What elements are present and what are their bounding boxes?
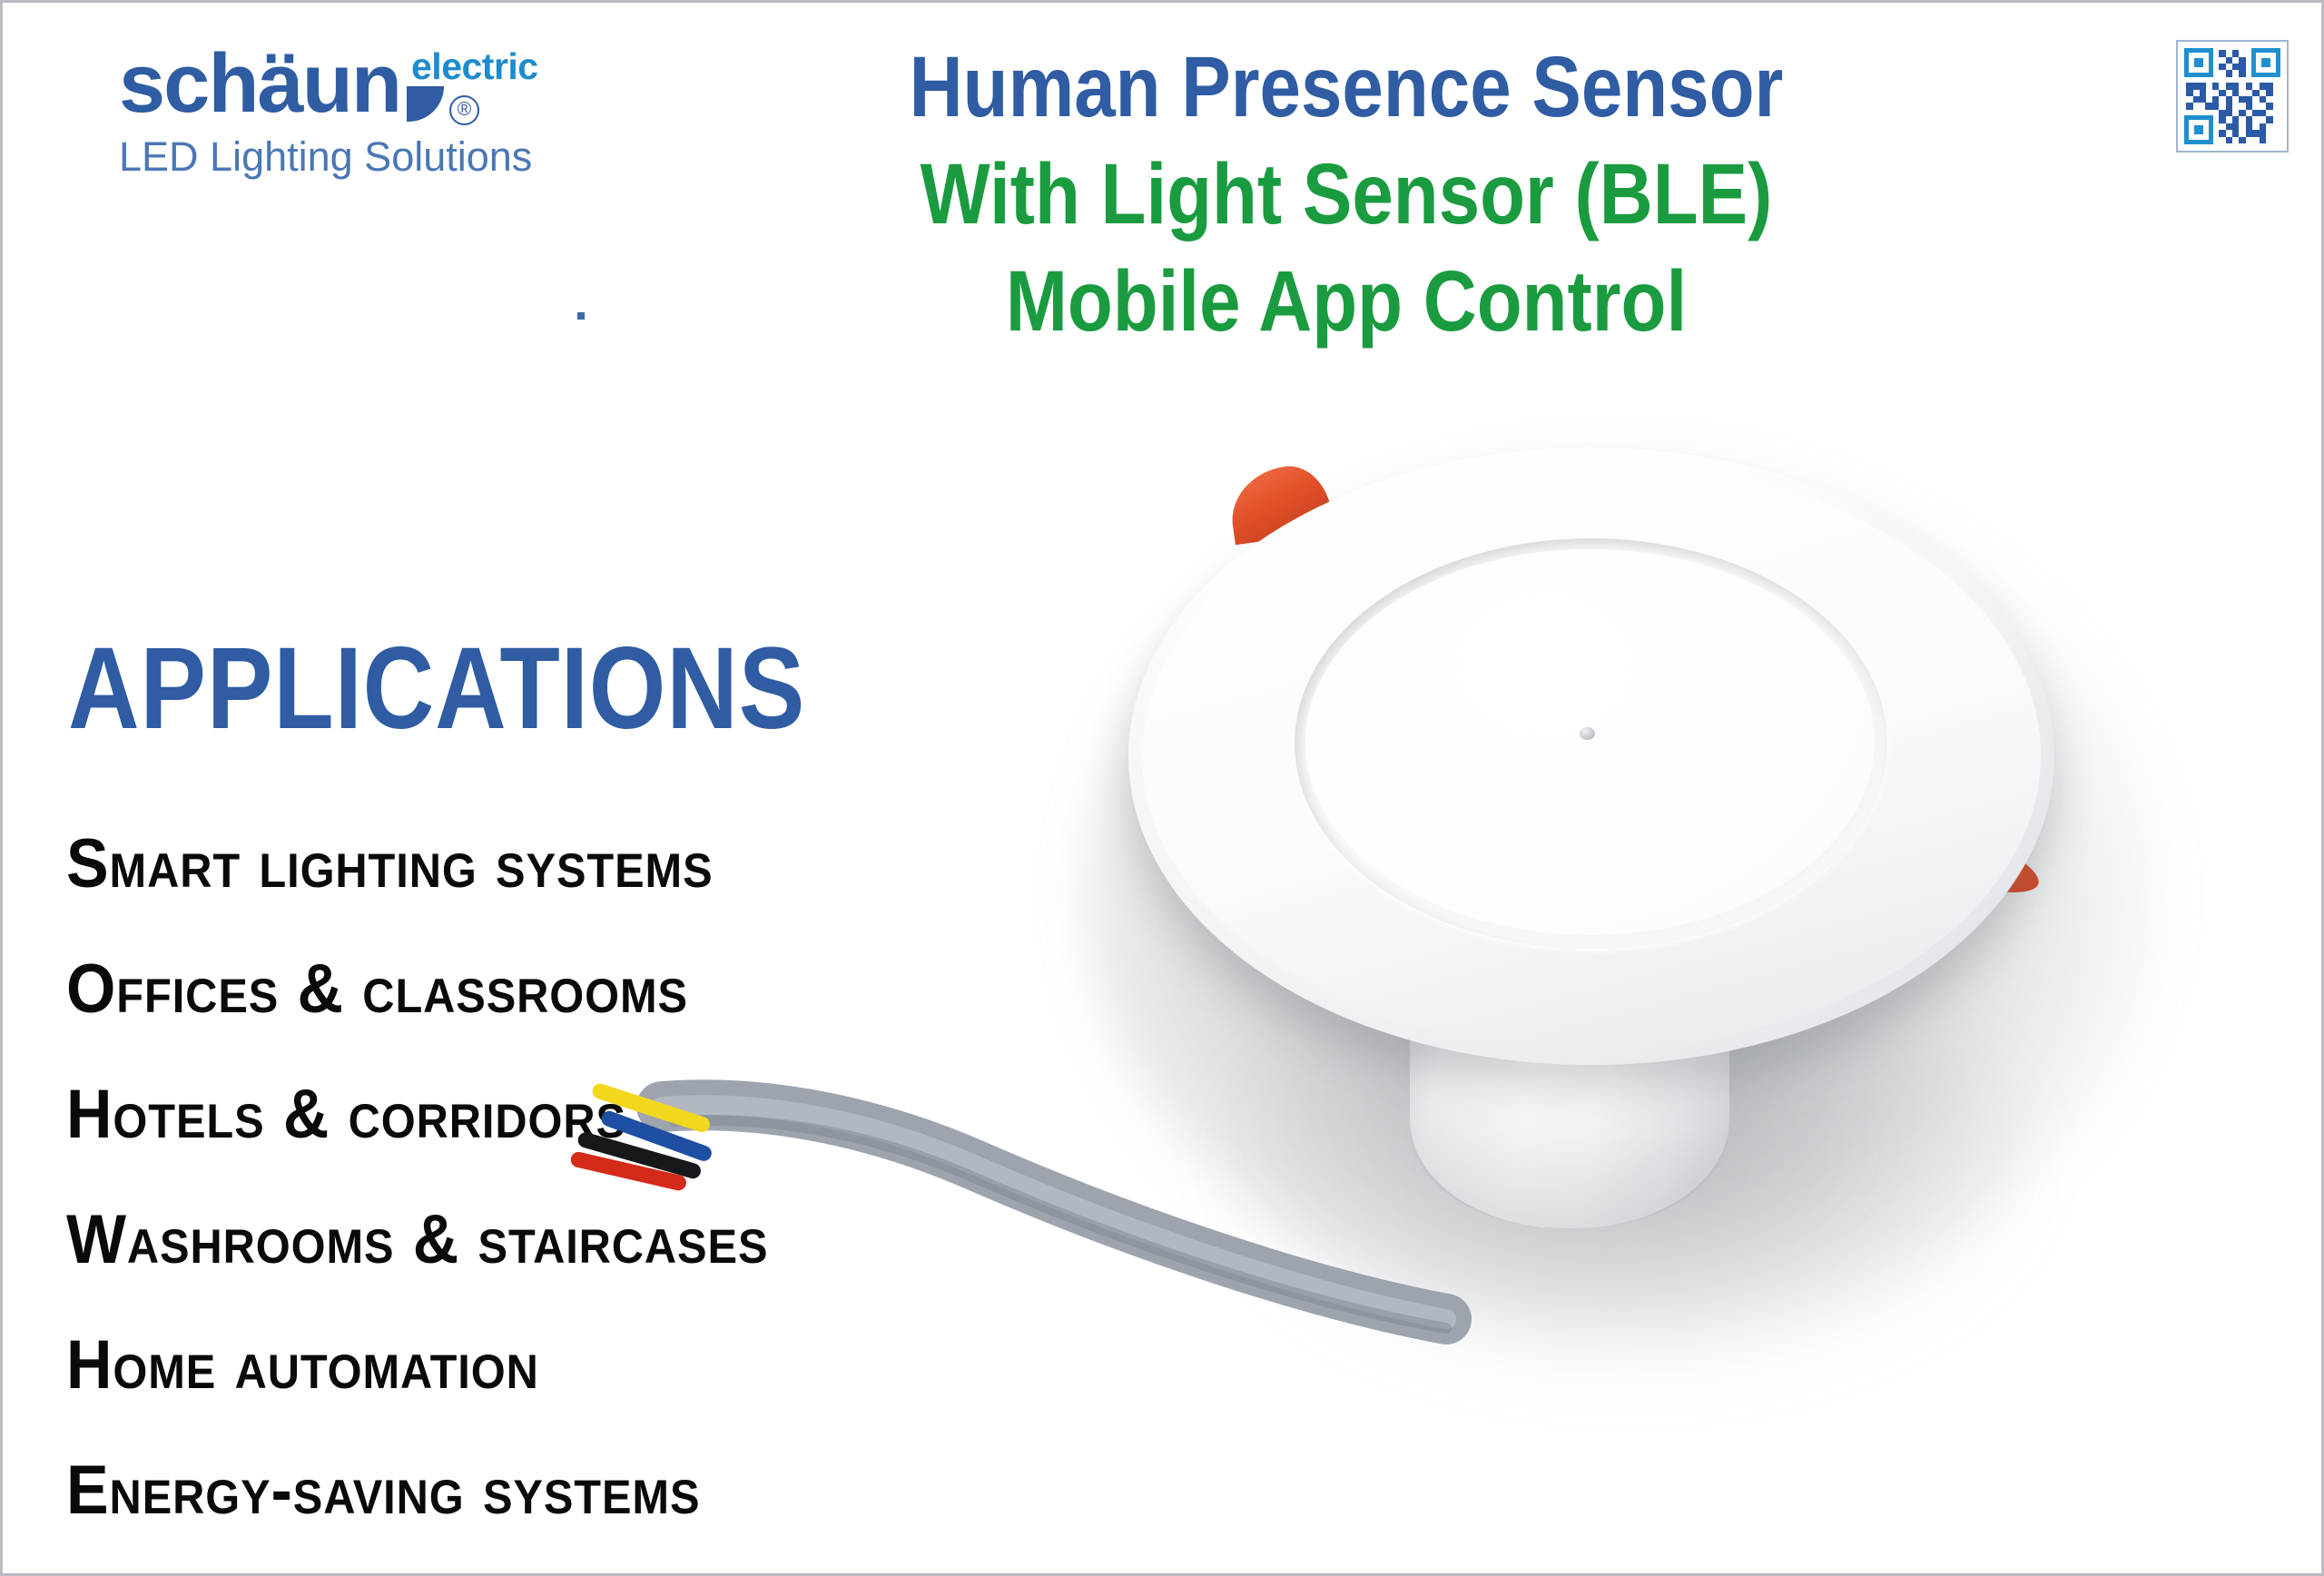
product-banner-page: schäun electric ® LED Lighting Solutions… [0, 0, 2324, 1576]
headline-primary: Human Presence Sensor [737, 34, 1955, 141]
headline-secondary: With Light Sensor (BLE) [737, 141, 1955, 248]
logo-electric-label: electric [411, 48, 538, 85]
applications-heading: APPLICATIONS [68, 629, 805, 749]
list-item: Energy-saving systems [66, 1428, 1110, 1553]
logo-wordmark: schäun electric ® [119, 44, 591, 123]
recessed-inner-dome [1295, 538, 1887, 949]
registered-trademark-icon: ® [449, 95, 479, 125]
headline-tertiary: Mobile App Control [737, 248, 1955, 355]
inner-dome-surface [1305, 549, 1875, 935]
product-photo [992, 393, 2299, 1510]
stray-dot-artifact [577, 312, 585, 320]
headline-group: Human Presence Sensor With Light Sensor … [638, 34, 2054, 355]
brand-logo: schäun electric ® LED Lighting Solutions [119, 44, 591, 181]
logo-wedge-icon [407, 86, 444, 122]
flange-rim [1142, 462, 2040, 1049]
brand-tagline: LED Lighting Solutions [119, 133, 591, 181]
qr-code-modules [2184, 48, 2280, 144]
product-flange-disc [1128, 448, 2054, 1065]
sensor-lens-dot [1580, 727, 1595, 740]
logo-brand-name: schäun [119, 44, 400, 123]
qr-code-icon[interactable] [2176, 40, 2289, 153]
